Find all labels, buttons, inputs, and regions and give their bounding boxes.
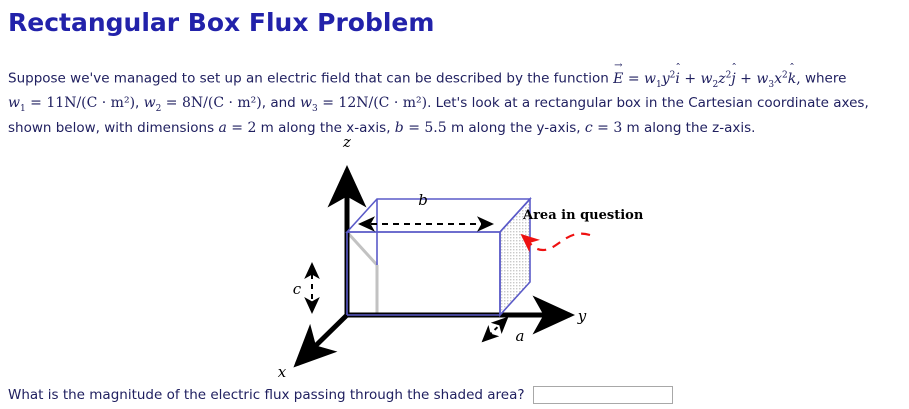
problem-statement: Suppose we've managed to set up an elect…: [8, 66, 904, 138]
w1-definition: w1 = 11N/(C · m²): [8, 95, 135, 111]
eq-i-hat: i: [675, 70, 679, 89]
w2-symbol: w: [144, 95, 156, 111]
w2-value: 8: [182, 95, 191, 111]
area-in-question-label: Area in question: [522, 208, 644, 223]
dimension-c-label: c: [293, 280, 302, 298]
eq-w2: w: [701, 71, 713, 87]
electric-field-equation: E = w1y2i + w2z2j + w3x2k,: [613, 71, 801, 87]
eq-j-hat: j: [731, 70, 735, 89]
w1-unit: N/(C · m²): [64, 95, 135, 111]
eq-x: x: [774, 71, 782, 87]
box-hidden-edges: [347, 232, 500, 315]
dimension-a: a: [483, 318, 524, 345]
question-row: What is the magnitude of the electric fl…: [8, 386, 673, 404]
w2-definition: w2 = 8N/(C · m²): [144, 95, 262, 111]
dimension-c: c: [293, 264, 312, 312]
w1-symbol: w: [8, 95, 20, 111]
w3-definition: w3 = 12N/(C · m²): [300, 95, 427, 111]
dimension-b: b: [360, 191, 492, 224]
question-text: What is the magnitude of the electric fl…: [8, 387, 525, 403]
w3-unit: N/(C · m²): [356, 95, 427, 111]
w1-value: 11: [46, 95, 64, 111]
where-word: where: [805, 71, 846, 87]
answer-input[interactable]: [533, 386, 673, 404]
eq-z: z: [718, 71, 725, 87]
axis-label-z: z: [342, 133, 351, 151]
w3-symbol: w: [300, 95, 312, 111]
comma-2: ,: [262, 95, 266, 111]
area-in-question-leader: [523, 234, 590, 250]
dimension-b-label: b: [418, 191, 428, 209]
vector-E-symbol: E: [613, 70, 623, 89]
w3-value: 12: [338, 95, 356, 111]
and-word-1: and: [270, 95, 295, 111]
dim-a-symbol: a: [218, 120, 226, 136]
box-top-face: [347, 199, 530, 232]
axis-label-x: x: [278, 363, 287, 381]
x-axis: [297, 315, 347, 364]
axis-label-y: y: [577, 307, 587, 325]
dim-a-definition: a = 2: [218, 120, 256, 136]
period-1: .: [427, 95, 431, 111]
eq-w3: w: [756, 71, 768, 87]
eq-k-hat: k: [788, 70, 796, 89]
dimension-a-label: a: [516, 327, 525, 345]
dimension-a-arrow: [483, 318, 507, 341]
eq-y: y: [662, 71, 670, 87]
eq-w1: w: [644, 71, 656, 87]
box-flux-diagram: b c a Area in question z y x: [255, 132, 675, 382]
w2-unit: N/(C · m²): [191, 95, 262, 111]
page-title: Rectangular Box Flux Problem: [8, 8, 434, 37]
problem-sentence-1: Suppose we've managed to set up an elect…: [8, 71, 609, 87]
comma-1: ,: [135, 95, 139, 111]
